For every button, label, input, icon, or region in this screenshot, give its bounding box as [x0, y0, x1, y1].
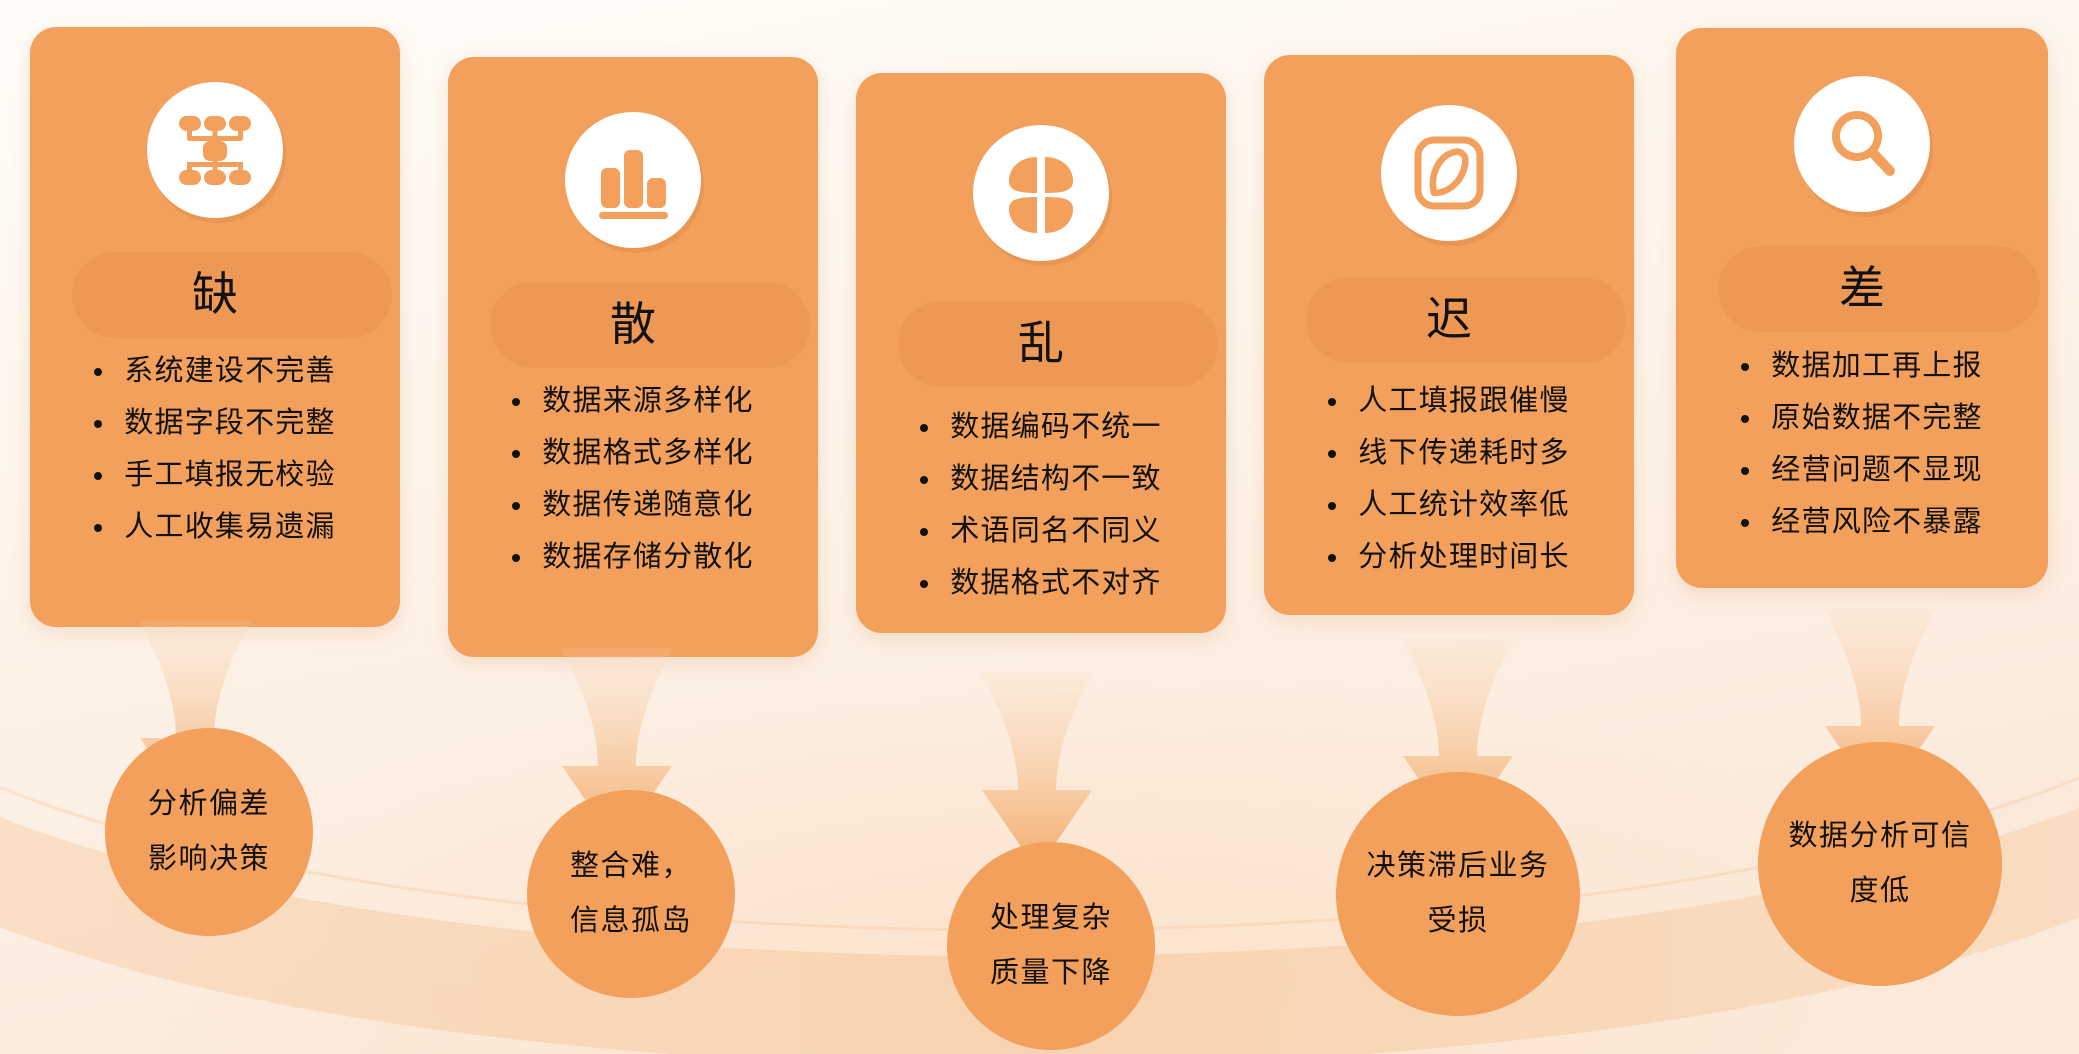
- problem-card-2[interactable]: 散 数据来源多样化 数据格式多样化 数据传递随意化 数据存储分散化: [448, 57, 818, 657]
- outcome-line: 整合难，: [570, 852, 692, 881]
- list-item: 数据来源多样化: [512, 387, 753, 416]
- bullet-dot: [920, 580, 928, 588]
- problem-card-5[interactable]: 差 数据加工再上报 原始数据不完整 经营问题不显现 经营风险不暴露: [1676, 28, 2048, 588]
- card-title: 迟: [1264, 297, 1634, 343]
- bullet-list: 数据加工再上报 原始数据不完整 经营问题不显现 经营风险不暴露: [1676, 352, 2048, 537]
- problem-card-4[interactable]: 迟 人工填报跟催慢 线下传递耗时多 人工统计效率低 分析处理时间长: [1264, 55, 1634, 615]
- bullet-dot: [920, 528, 928, 536]
- outcome-line: 度低: [1849, 877, 1910, 906]
- bullet-dot: [1328, 502, 1336, 510]
- bullet-text: 经营风险不暴露: [1771, 508, 1982, 537]
- list-item: 原始数据不完整: [1741, 404, 1982, 433]
- bullet-dot: [1741, 467, 1749, 475]
- bullet-dot: [920, 476, 928, 484]
- bullet-dot: [94, 368, 102, 376]
- list-item: 数据加工再上报: [1741, 352, 1982, 381]
- org-chart-icon: [147, 82, 283, 218]
- bullet-text: 数据加工再上报: [1771, 352, 1982, 381]
- list-item: 人工填报跟催慢: [1328, 387, 1569, 416]
- bullet-list: 数据编码不统一 数据结构不一致 术语同名不同义 数据格式不对齐: [856, 413, 1226, 598]
- list-item: 系统建设不完善: [94, 357, 335, 386]
- bullet-text: 人工收集易遗漏: [124, 513, 335, 542]
- outcome-circle-2[interactable]: 整合难， 信息孤岛: [527, 790, 735, 998]
- outcome-circle-3[interactable]: 处理复杂 质量下降: [947, 842, 1155, 1050]
- outcome-line: 信息孤岛: [570, 907, 692, 936]
- list-item: 数据编码不统一: [920, 413, 1161, 442]
- four-petal-icon: [973, 125, 1109, 261]
- bullet-text: 数据来源多样化: [542, 387, 753, 416]
- list-item: 手工填报无校验: [94, 461, 335, 490]
- bullet-dot: [512, 554, 520, 562]
- bullet-dot: [94, 524, 102, 532]
- bullet-text: 数据字段不完整: [124, 409, 335, 438]
- problem-card-3[interactable]: 乱 数据编码不统一 数据结构不一致 术语同名不同义 数据格式不对齐: [856, 73, 1226, 633]
- bullet-text: 系统建设不完善: [124, 357, 335, 386]
- bullet-dot: [1328, 398, 1336, 406]
- bullet-text: 原始数据不完整: [1771, 404, 1982, 433]
- card-title: 缺: [30, 272, 400, 318]
- list-item: 分析处理时间长: [1328, 543, 1569, 572]
- card-title: 散: [448, 302, 818, 348]
- bullet-dot: [920, 424, 928, 432]
- problem-card-1[interactable]: 缺 系统建设不完善 数据字段不完整 手工填报无校验 人工收集易遗漏: [30, 27, 400, 627]
- bullet-dot: [512, 398, 520, 406]
- outcome-line: 影响决策: [148, 845, 270, 874]
- bullet-text: 数据结构不一致: [950, 465, 1161, 494]
- outcome-circle-1[interactable]: 分析偏差 影响决策: [105, 728, 313, 936]
- bar-chart-icon: [565, 112, 701, 248]
- outcome-circle-5[interactable]: 数据分析可信 度低: [1758, 742, 2002, 986]
- list-item: 数据存储分散化: [512, 543, 753, 572]
- list-item: 人工收集易遗漏: [94, 513, 335, 542]
- leaf-in-square-icon: [1381, 105, 1517, 241]
- card-title: 差: [1676, 266, 2048, 312]
- bullet-text: 数据格式多样化: [542, 439, 753, 468]
- bullet-dot: [1328, 450, 1336, 458]
- list-item: 线下传递耗时多: [1328, 439, 1569, 468]
- list-item: 术语同名不同义: [920, 517, 1161, 546]
- list-item: 人工统计效率低: [1328, 491, 1569, 520]
- list-item: 数据字段不完整: [94, 409, 335, 438]
- outcome-line: 处理复杂: [990, 904, 1112, 933]
- magnifier-icon: [1794, 76, 1930, 212]
- list-item: 数据格式多样化: [512, 439, 753, 468]
- list-item: 数据格式不对齐: [920, 569, 1161, 598]
- bullet-text: 手工填报无校验: [124, 461, 335, 490]
- bullet-text: 数据传递随意化: [542, 491, 753, 520]
- bullet-text: 分析处理时间长: [1358, 543, 1569, 572]
- outcome-line: 受损: [1427, 907, 1488, 936]
- list-item: 经营风险不暴露: [1741, 508, 1982, 537]
- bullet-text: 数据存储分散化: [542, 543, 753, 572]
- bullet-dot: [94, 472, 102, 480]
- bullet-text: 人工统计效率低: [1358, 491, 1569, 520]
- bullet-list: 数据来源多样化 数据格式多样化 数据传递随意化 数据存储分散化: [448, 387, 818, 572]
- bullet-text: 术语同名不同义: [950, 517, 1161, 546]
- bullet-text: 经营问题不显现: [1771, 456, 1982, 485]
- list-item: 数据传递随意化: [512, 491, 753, 520]
- bullet-text: 人工填报跟催慢: [1358, 387, 1569, 416]
- bullet-list: 系统建设不完善 数据字段不完整 手工填报无校验 人工收集易遗漏: [30, 357, 400, 542]
- list-item: 数据结构不一致: [920, 465, 1161, 494]
- outcome-circle-4[interactable]: 决策滞后业务 受损: [1336, 772, 1580, 1016]
- card-title: 乱: [856, 321, 1226, 367]
- outcome-line: 决策滞后业务: [1366, 852, 1549, 881]
- bullet-text: 线下传递耗时多: [1358, 439, 1569, 468]
- bullet-text: 数据编码不统一: [950, 413, 1161, 442]
- bullet-dot: [512, 450, 520, 458]
- outcome-line: 质量下降: [990, 959, 1112, 988]
- list-item: 经营问题不显现: [1741, 456, 1982, 485]
- outcome-line: 分析偏差: [148, 790, 270, 819]
- bullet-text: 数据格式不对齐: [950, 569, 1161, 598]
- bullet-dot: [1741, 519, 1749, 527]
- bullet-dot: [94, 420, 102, 428]
- bullet-list: 人工填报跟催慢 线下传递耗时多 人工统计效率低 分析处理时间长: [1264, 387, 1634, 572]
- bullet-dot: [1328, 554, 1336, 562]
- bullet-dot: [512, 502, 520, 510]
- bullet-dot: [1741, 363, 1749, 371]
- outcome-line: 数据分析可信: [1788, 822, 1971, 851]
- bullet-dot: [1741, 415, 1749, 423]
